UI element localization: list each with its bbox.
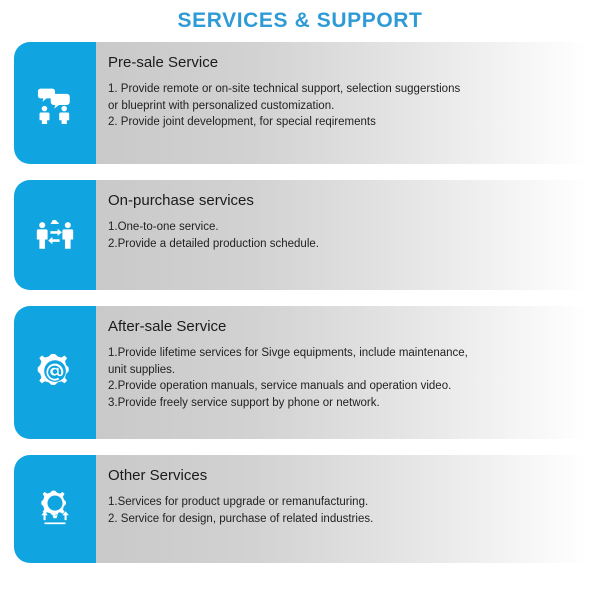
panel-line: 2. Service for design, purchase of relat… — [108, 511, 574, 528]
panel-line: or blueprint with personalized customiza… — [108, 98, 574, 115]
panel-line: 2. Provide joint development, for specia… — [108, 114, 574, 131]
gear-at-sign-icon — [34, 352, 76, 394]
services-support-page: SERVICES & SUPPORT — [0, 0, 600, 600]
panel-line: 3.Provide freely service support by phon… — [108, 395, 574, 412]
gear-lightbulb-upgrade-icon — [34, 488, 76, 530]
panel-line: 2.Provide a detailed production schedule… — [108, 236, 574, 253]
panel-text-lines: 1.One-to-one service. 2.Provide a detail… — [108, 219, 574, 252]
panel-heading: After-sale Service — [108, 318, 574, 336]
panel-content: Pre-sale Service 1. Provide remote or on… — [96, 42, 588, 164]
panel-icon-tile — [14, 455, 96, 563]
panel-line: 1.Services for product upgrade or remanu… — [108, 494, 574, 511]
panel-heading: Other Services — [108, 467, 574, 485]
people-speech-bubbles-icon — [34, 82, 76, 124]
panel-text-lines: 1.Services for product upgrade or remanu… — [108, 494, 574, 527]
panel-icon-tile — [14, 306, 96, 439]
panel-line: 2.Provide operation manuals, service man… — [108, 378, 574, 395]
panel-content: On-purchase services 1.One-to-one servic… — [96, 180, 588, 290]
service-panel-list: Pre-sale Service 1. Provide remote or on… — [0, 42, 600, 563]
service-panel: On-purchase services 1.One-to-one servic… — [14, 180, 588, 290]
panel-line: 1. Provide remote or on-site technical s… — [108, 81, 574, 98]
panel-content: Other Services 1.Services for product up… — [96, 455, 588, 563]
page-title: SERVICES & SUPPORT — [0, 0, 600, 32]
service-panel: Pre-sale Service 1. Provide remote or on… — [14, 42, 588, 164]
people-exchange-arrows-icon — [34, 214, 76, 256]
panel-line: 1.Provide lifetime services for Sivge eq… — [108, 345, 574, 362]
panel-line: unit supplies. — [108, 362, 574, 379]
panel-icon-tile — [14, 180, 96, 290]
panel-line: 1.One-to-one service. — [108, 219, 574, 236]
panel-text-lines: 1.Provide lifetime services for Sivge eq… — [108, 345, 574, 412]
panel-heading: On-purchase services — [108, 192, 574, 210]
panel-icon-tile — [14, 42, 96, 164]
service-panel: After-sale Service 1.Provide lifetime se… — [14, 306, 588, 439]
panel-heading: Pre-sale Service — [108, 54, 574, 72]
panel-content: After-sale Service 1.Provide lifetime se… — [96, 306, 588, 439]
service-panel: Other Services 1.Services for product up… — [14, 455, 588, 563]
panel-text-lines: 1. Provide remote or on-site technical s… — [108, 81, 574, 131]
